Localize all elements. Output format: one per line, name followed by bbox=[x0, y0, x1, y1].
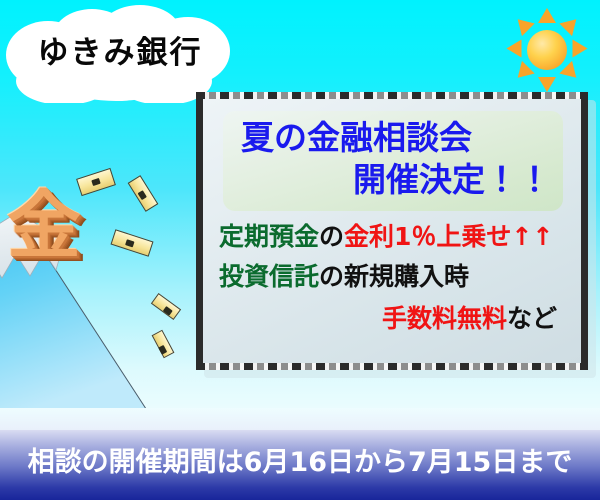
sun-ray-north bbox=[538, 8, 556, 23]
offer-connector: の bbox=[319, 222, 344, 251]
sun-ray-northwest bbox=[511, 13, 534, 36]
sun-icon bbox=[505, 8, 589, 92]
offer-highlight: 金利1％上乗せ↑↑ bbox=[344, 222, 553, 251]
offer-line-deposit: 定期預金の金利1％上乗せ↑↑ bbox=[217, 219, 567, 255]
offer-line-trust: 投資信託の新規購入時 bbox=[217, 259, 567, 295]
signboard-content: 夏の金融相談会 開催決定！！ 定期預金の金利1％上乗せ↑↑ 投資信託の新規購入時… bbox=[203, 99, 581, 363]
bank-name-cloud: ゆきみ銀行 bbox=[4, 3, 236, 103]
offer-keyword: 投資信託 bbox=[219, 262, 319, 291]
offer-line-fee: 手数料無料など bbox=[217, 301, 567, 337]
sun-disc bbox=[527, 30, 567, 70]
offer-connector: など bbox=[507, 304, 557, 333]
sun-ray-west bbox=[507, 40, 522, 58]
offer-connector: の新規購入時 bbox=[319, 262, 469, 291]
gold-kanji-symbol: 金 bbox=[0, 183, 90, 273]
sun-ray-southwest bbox=[511, 61, 534, 84]
offer-keyword: 定期預金 bbox=[219, 222, 319, 251]
ground-band bbox=[0, 408, 600, 430]
sun-ray-east bbox=[573, 40, 588, 58]
headline-line-2: 開催決定！！ bbox=[233, 159, 553, 201]
period-banner-label: 相談の開催期間は6月16日から7月15日まで bbox=[0, 444, 600, 482]
period-banner: 相談の開催期間は6月16日から7月15日まで bbox=[0, 430, 600, 500]
sun-ray-south bbox=[538, 77, 556, 92]
sun-ray-southeast bbox=[559, 61, 582, 84]
announcement-signboard: 夏の金融相談会 開催決定！！ 定期預金の金利1％上乗せ↑↑ 投資信託の新規購入時… bbox=[196, 92, 588, 370]
sun-ray-northeast bbox=[559, 13, 582, 36]
offer-highlight: 手数料無料 bbox=[382, 304, 507, 333]
poster-root: 金 ゆきみ銀行 夏の金融相談会 開催決定！！ bbox=[0, 0, 600, 500]
title-panel: 夏の金融相談会 開催決定！！ bbox=[223, 111, 563, 211]
headline-line-1: 夏の金融相談会 bbox=[233, 117, 553, 159]
bank-name-label: ゆきみ銀行 bbox=[4, 33, 236, 73]
